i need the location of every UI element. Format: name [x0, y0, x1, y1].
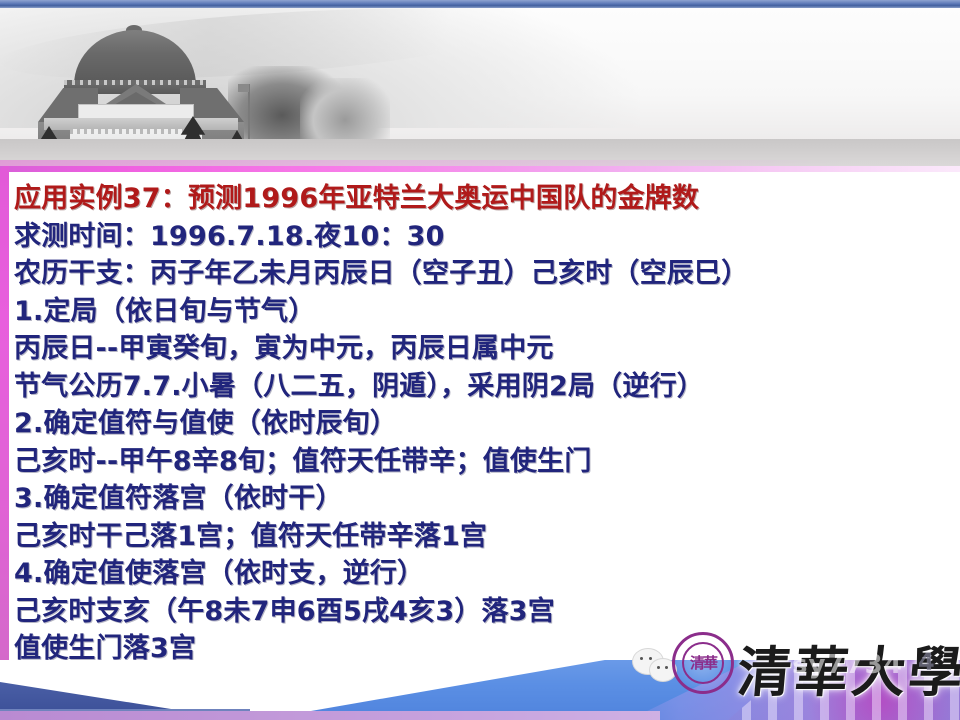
- text-line-step-3-detail: 己亥时干己落1宫；值符天任带辛落1宫: [14, 518, 954, 556]
- tree-cluster-right: [300, 78, 390, 148]
- slide-title: 应用实例37：预测1996年亚特兰大奥运中国队的金牌数: [14, 180, 954, 218]
- footer-bottom-bar: [0, 711, 660, 720]
- tsinghua-watermark: 清華 清華大學 sy7734: [672, 626, 960, 708]
- dome-dentil-band: [64, 80, 206, 85]
- header-photo-band: [0, 8, 960, 166]
- flag-icon: [238, 84, 249, 92]
- presentation-slide: 应用实例37：预测1996年亚特兰大奥运中国队的金牌数 求测时间：1996.7.…: [0, 0, 960, 720]
- top-blue-rule: [0, 0, 960, 8]
- university-seal-icon: 清華: [672, 632, 734, 694]
- wechat-id-watermark: sy7734: [792, 650, 903, 680]
- text-line-step-2: 2.确定值符与值使（依时辰旬）: [14, 405, 954, 443]
- text-line-step-4-detail: 己亥时支亥（午8未7申6酉5戌4亥3）落3宫: [14, 593, 954, 631]
- text-line-step-2-detail: 己亥时--甲午8辛8旬；值符天任带辛；值使生门: [14, 443, 954, 481]
- page-number: 4: [918, 648, 935, 676]
- left-magenta-edge: [0, 166, 9, 676]
- text-line-step-4: 4.确定值使落宫（依时支，逆行）: [14, 555, 954, 593]
- text-line-lunar-ganzhi: 农历干支：丙子年乙未月丙辰日（空子丑）己亥时（空辰巳）: [14, 255, 954, 293]
- text-line-divination-time: 求测时间：1996.7.18.夜10：30: [14, 218, 954, 256]
- text-line-step-1-detail-a: 丙辰日--甲寅癸旬，寅为中元，丙辰日属中元: [14, 330, 954, 368]
- wechat-icon: [632, 648, 676, 682]
- slide-body: 应用实例37：预测1996年亚特兰大奥运中国队的金牌数 求测时间：1996.7.…: [9, 172, 960, 670]
- text-line-step-1-detail-b: 节气公历7.7.小暑（八二五，阴遁），采用阴2局（逆行）: [14, 368, 954, 406]
- text-block: 应用实例37：预测1996年亚特兰大奥运中国队的金牌数 求测时间：1996.7.…: [14, 180, 954, 668]
- text-line-step-1: 1.定局（依日旬与节气）: [14, 293, 954, 331]
- text-line-step-3: 3.确定值符落宫（依时干）: [14, 480, 954, 518]
- seal-glyph: 清華: [675, 635, 731, 691]
